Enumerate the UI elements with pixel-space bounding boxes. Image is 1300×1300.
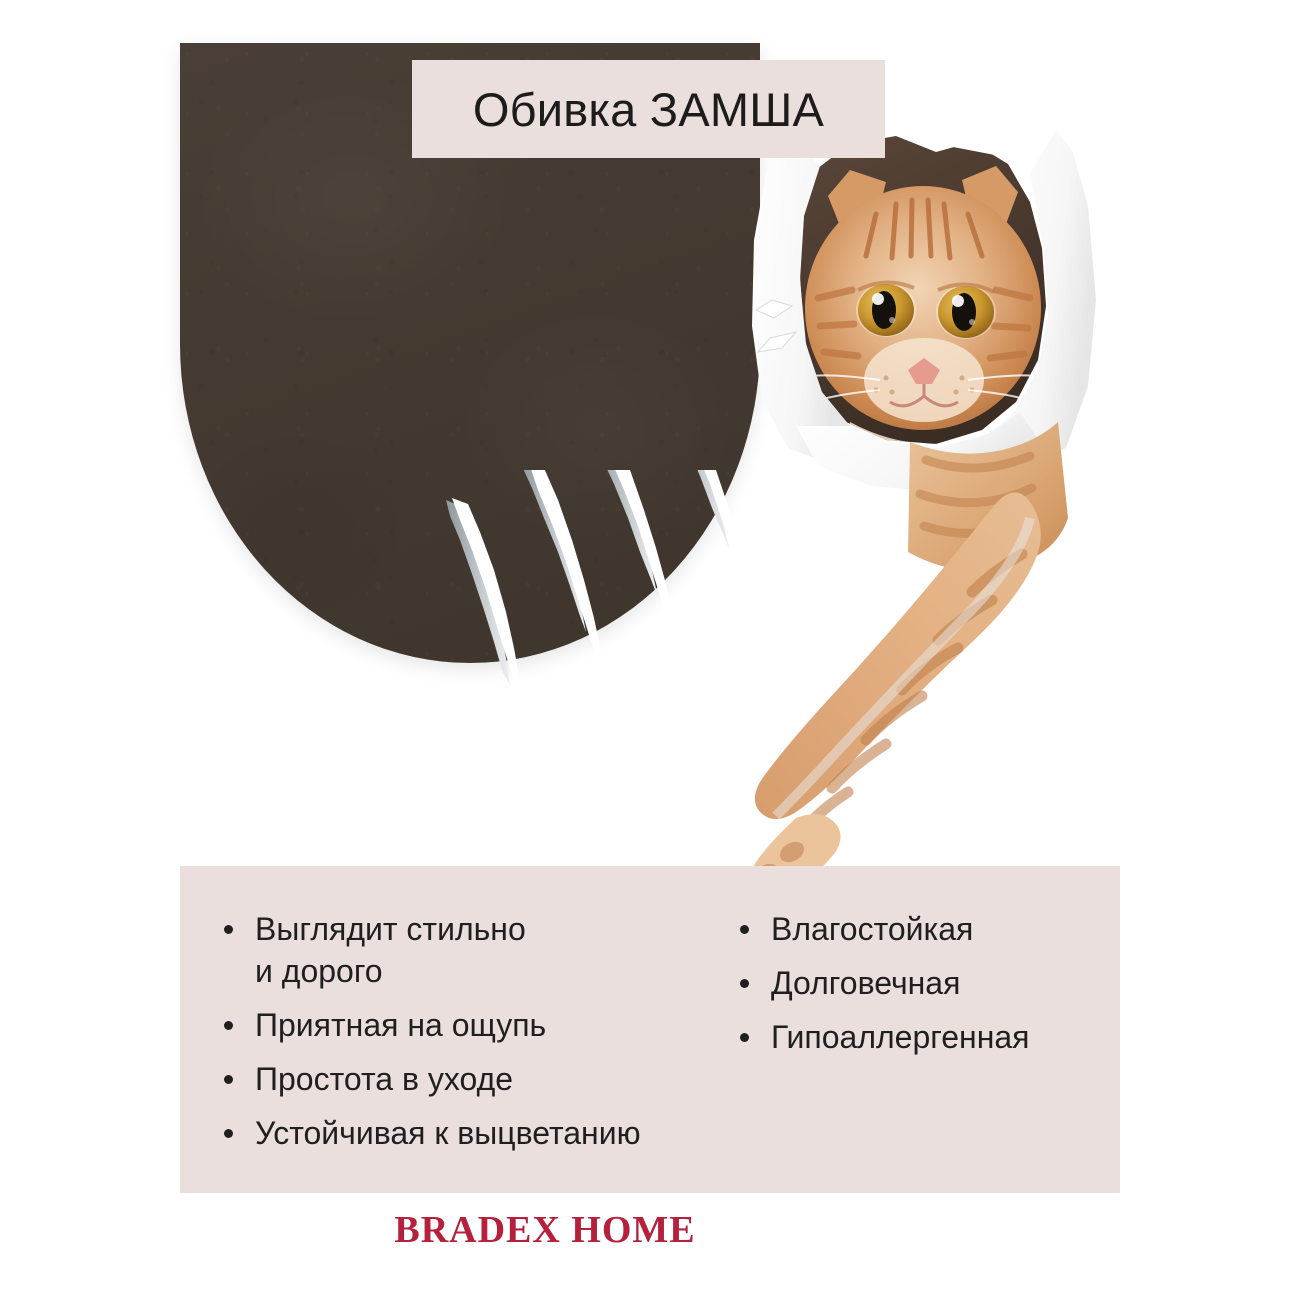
list-item: Влагостойкая bbox=[740, 908, 1120, 950]
benefit-label: Долговечная bbox=[771, 962, 960, 1004]
brand-name: BRADEX HOME bbox=[394, 1208, 695, 1252]
list-item: Приятная на ощупь bbox=[224, 1004, 730, 1046]
bullet-dot-icon bbox=[740, 979, 749, 988]
bullet-dot-icon bbox=[740, 925, 749, 934]
ginger-cat-through-torn-paper bbox=[700, 130, 1140, 870]
benefit-label: Простота в уходе bbox=[255, 1058, 513, 1100]
bullet-dot-icon bbox=[224, 925, 233, 934]
bullet-dot-icon bbox=[224, 1075, 233, 1084]
benefit-label: Устойчивая к выцветанию bbox=[255, 1112, 641, 1154]
benefits-column-right: Влагостойкая Долговечная Гипоаллергенная bbox=[730, 908, 1120, 1193]
list-item: Долговечная bbox=[740, 962, 1120, 1004]
bullet-dot-icon bbox=[740, 1033, 749, 1042]
list-item: Гипоаллергенная bbox=[740, 1016, 1120, 1058]
benefit-label: Выглядит стильно и дорого bbox=[255, 908, 526, 992]
brand-logo: BRADEX HOME bbox=[0, 1208, 1300, 1252]
cat-foreleg bbox=[755, 492, 1041, 819]
infographic-canvas: Обивка ЗАМША Выглядит стильно и дорого П… bbox=[0, 0, 1300, 1300]
bullet-dot-icon bbox=[224, 1021, 233, 1030]
list-item: Выглядит стильно и дорого bbox=[224, 908, 730, 992]
benefit-label: Приятная на ощупь bbox=[255, 1004, 546, 1046]
list-item: Устойчивая к выцветанию bbox=[224, 1112, 730, 1154]
benefits-panel: Выглядит стильно и дорого Приятная на ощ… bbox=[180, 866, 1120, 1193]
bullet-dot-icon bbox=[224, 1129, 233, 1138]
benefits-column-left: Выглядит стильно и дорого Приятная на ощ… bbox=[180, 908, 730, 1193]
benefit-label: Гипоаллергенная bbox=[771, 1016, 1030, 1058]
benefit-label: Влагостойкая bbox=[771, 908, 973, 950]
page-title: Обивка ЗАМША bbox=[473, 82, 824, 137]
title-banner: Обивка ЗАМША bbox=[412, 60, 885, 158]
list-item: Простота в уходе bbox=[224, 1058, 730, 1100]
